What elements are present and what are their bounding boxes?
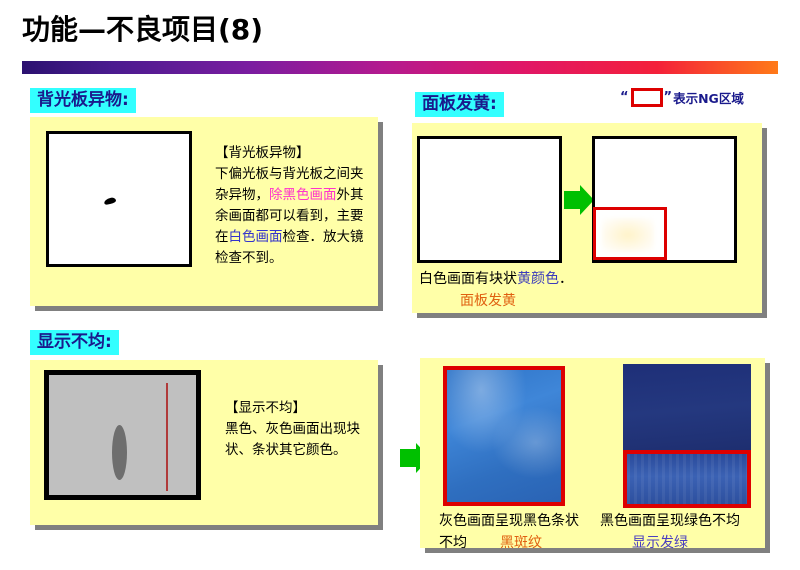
text-run: 状、条状其它颜色。 [225, 442, 347, 458]
text-run: 除黑色画面 [269, 187, 337, 203]
description-line: 在白色画面检查．放大镜 [215, 227, 364, 248]
description-display-nonuniform: 【显示不均】黑色、灰色画面出现块状、条状其它颜色。 [225, 398, 360, 461]
text-run: 检查不到。 [215, 250, 283, 266]
text-run: 下偏光板与背光板之间夹 [215, 166, 364, 182]
caption-left-line1: 灰色画面呈现黑色条状 [439, 511, 579, 532]
description-line: 状、条状其它颜色。 [225, 440, 360, 461]
caption-left-line2: 不均 [439, 533, 467, 554]
photo-gray-screen-black-streak [443, 366, 565, 506]
caption-right-line1: 黑色画面呈现绿色不均 [600, 511, 740, 532]
sample-screen-gray [44, 370, 201, 500]
photo-upper-region [623, 364, 751, 456]
caption-right-defect-name: 显示发绿 [632, 533, 688, 554]
description-line: 【背光板异物】 [215, 143, 364, 164]
text-run: 外其 [337, 187, 364, 203]
panel-backlight-foreign: 【背光板异物】下偏光板与背光板之间夹杂异物，除黑色画面外其余画面都可以看到，主要… [30, 117, 378, 306]
legend-close-quote: ” [664, 90, 673, 105]
panel-panel-yellowing: 白色画面有块状黄颜色． 面板发黄 [412, 123, 762, 313]
text-run: 【背光板异物】 [215, 145, 310, 161]
description-line: 余画面都可以看到，主要 [215, 206, 364, 227]
caption-panel-yellowing-line1: 白色画面有块状黄颜色． [419, 269, 573, 290]
text-run: ． [559, 271, 573, 287]
text-run: 余画面都可以看到，主要 [215, 208, 364, 224]
description-backlight-foreign: 【背光板异物】下偏光板与背光板之间夹杂异物，除黑色画面外其余画面都可以看到，主要… [215, 143, 364, 269]
page-title: 功能—不良项目(8) [22, 8, 263, 48]
description-line: 检查不到。 [215, 248, 364, 269]
sample-screen-white [46, 131, 192, 267]
red-rectangle-icon [631, 88, 663, 107]
panel-display-photos: 灰色画面呈现黑色条状 不均 黑斑纹 黑色画面呈现绿色不均 显示发绿 [420, 358, 765, 548]
text-run: 杂异物， [215, 187, 269, 203]
vertical-streak-line [166, 383, 168, 491]
text-run: 黑色、灰色画面出现块 [225, 421, 360, 437]
text-run: 白色画面 [229, 229, 283, 245]
ng-area-legend: “ ” 表示NG区域 [620, 88, 744, 107]
description-line: 杂异物，除黑色画面外其 [215, 185, 364, 206]
section-header-backlight-foreign: 背光板异物: [30, 88, 136, 113]
text-run: 【显示不均】 [225, 400, 306, 416]
foreign-particle-spot [104, 197, 117, 205]
description-line: 【显示不均】 [225, 398, 360, 419]
text-run: 白色画面有块状 [419, 271, 517, 287]
panel-display-nonuniform: 【显示不均】黑色、灰色画面出现块状、条状其它颜色。 [30, 360, 378, 525]
text-run: 黄颜色 [517, 271, 559, 287]
text-run: 检查．放大镜 [283, 229, 364, 245]
photo-black-screen-green-nonuniform [623, 364, 751, 508]
ng-area-marker-2 [623, 450, 751, 508]
sample-screen-good [417, 136, 562, 263]
text-run: 在 [215, 229, 229, 245]
caption-left-defect-name: 黑斑纹 [500, 533, 542, 554]
legend-open-quote: “ [620, 90, 629, 105]
description-line: 黑色、灰色画面出现块 [225, 419, 360, 440]
dark-blotch-ellipse [112, 425, 127, 480]
section-header-display-nonuniform: 显示不均: [30, 330, 119, 355]
text-run: 面板发黄 [460, 293, 516, 309]
section-header-panel-yellowing: 面板发黄: [415, 92, 504, 117]
legend-label: 表示NG区域 [673, 88, 744, 107]
title-divider-gradient-bar [22, 61, 778, 74]
caption-panel-yellowing-defect: 面板发黄 [460, 291, 516, 312]
ng-area-marker [593, 207, 667, 260]
description-line: 下偏光板与背光板之间夹 [215, 164, 364, 185]
